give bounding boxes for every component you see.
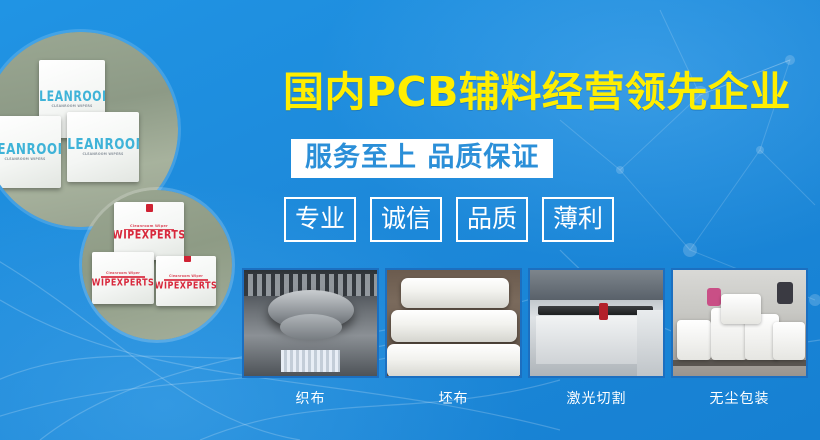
wipexperts-package-left: Cleanroom Wiper WIPEXPERTS	[92, 252, 154, 304]
cleanroom-sub-label: CLEANROOM WIPERS	[4, 157, 45, 161]
headline-text: 国内PCB辅料经营领先企业	[283, 72, 791, 113]
keyword-box-chengxin: 诚信	[370, 197, 442, 242]
worker-figure	[777, 282, 793, 304]
fabric-roll	[391, 310, 517, 342]
wipexperts-brand-label: WIPEXPERTS	[114, 230, 184, 242]
wipexperts-package-right: Cleanroom Wiper WIPEXPERTS	[156, 256, 216, 306]
red-stamp-icon	[184, 256, 191, 262]
fabric-rolls-photo[interactable]	[385, 268, 522, 378]
wipexperts-circle: Cleanroom Wiper WIPEXPERTS Cleanroom Wip…	[82, 190, 232, 340]
cleanroom-brand-label: CLEANROOM	[67, 137, 139, 152]
knitting-machine-photo[interactable]	[242, 268, 379, 378]
cleanroom-package-right: CLEANROOM CLEANROOM WIPERS	[67, 112, 139, 182]
subtitle-text: 服务至上 品质保证	[305, 142, 539, 173]
keyword-box-pinzhi: 品质	[456, 197, 528, 242]
fabric-roll	[401, 278, 509, 308]
thumbnail-item-weaving[interactable]: 织布	[242, 268, 379, 408]
machine-panel	[530, 270, 663, 300]
thumbnail-item-laser-cutting[interactable]: 激光切割	[528, 268, 665, 408]
laser-head	[599, 303, 608, 320]
worker-figure	[707, 288, 721, 306]
laser-cutting-machine-photo[interactable]	[528, 268, 665, 378]
packing-table	[673, 360, 806, 366]
keyword-box-baoli: 薄利	[542, 197, 614, 242]
cleanroom-brand-label: CLEANROOM	[0, 142, 61, 157]
wipexperts-sub-label: Cleanroom Wiper	[106, 271, 140, 275]
keyword-list: 专业 诚信 品质 薄利	[284, 197, 614, 242]
keyword-box-zhuanye: 专业	[284, 197, 356, 242]
wipexperts-brand-label: WIPEXPERTS	[92, 278, 154, 288]
cleanroom-package-left: CLEANROOM CLEANROOM WIPERS	[0, 116, 61, 188]
thumbnail-caption: 激光切割	[528, 388, 665, 408]
thumbnail-caption: 织布	[242, 388, 379, 408]
wipexperts-sub-label: Cleanroom Wiper	[169, 274, 203, 278]
wipexperts-sub-label: Cleanroom Wiper	[130, 224, 168, 228]
fabric-bale	[773, 322, 805, 360]
thumbnail-caption: 无尘包装	[671, 388, 808, 408]
cleanroom-sub-label: CLEANROOM WIPERS	[82, 152, 123, 156]
subtitle-box: 服务至上 品质保证	[291, 139, 553, 178]
fabric-bale	[721, 294, 761, 324]
promo-banner: CLEANROOM CLEANROOM WIPERS CLEANROOM CLE…	[0, 0, 820, 440]
cutting-bed	[536, 316, 647, 364]
thumbnail-item-cleanroom-packing[interactable]: 无尘包装	[671, 268, 808, 408]
red-stamp-icon	[146, 204, 153, 212]
cleanroom-brand-label: CLEANROOM	[39, 89, 105, 103]
wipexperts-brand-label: WIPEXPERTS	[156, 281, 216, 291]
machine-inner-ring	[280, 314, 342, 340]
laser-gantry	[538, 306, 653, 315]
thumbnail-caption: 坯布	[385, 388, 522, 408]
cleanroom-packing-photo[interactable]	[671, 268, 808, 378]
thumbnail-item-greige-fabric[interactable]: 坯布	[385, 268, 522, 408]
cleanroom-sub-label: CLEANROOM WIPERS	[51, 104, 92, 108]
fabric-bale	[677, 320, 711, 360]
fabric-roll	[387, 344, 521, 378]
machine-side-cabinet	[637, 310, 663, 376]
process-thumbnail-list: 织布 坯布 激光切割	[242, 268, 808, 408]
knitted-fabric	[281, 350, 340, 372]
